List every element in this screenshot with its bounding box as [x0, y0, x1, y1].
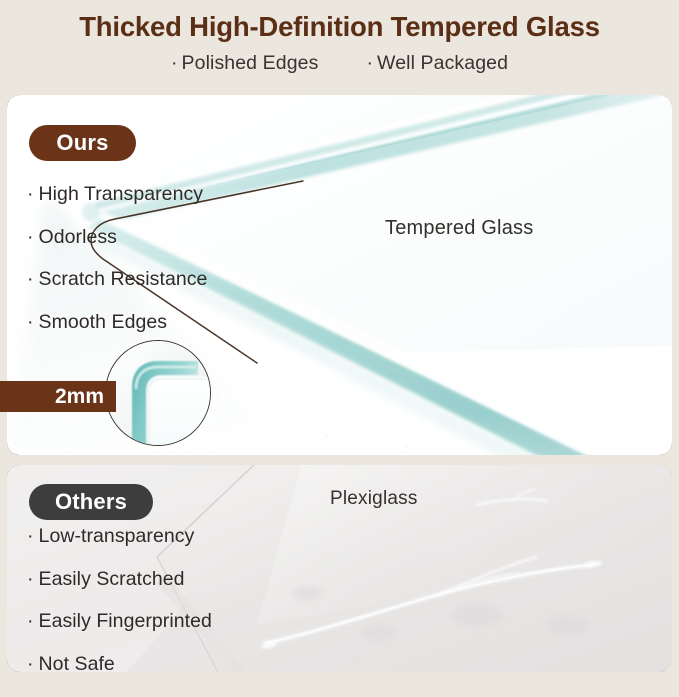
- feature-label: Easily Fingerprinted: [39, 610, 212, 632]
- subtitle-item-well-packaged: ·Well Packaged: [366, 52, 508, 75]
- bullet-dot-icon: ·: [27, 268, 34, 290]
- others-badge: Others: [29, 484, 153, 520]
- ours-badge: Ours: [29, 125, 136, 161]
- product-comparison-infographic: Thicked High-Definition Tempered Glass ·…: [0, 0, 679, 679]
- feature-label: Not Safe: [39, 653, 115, 675]
- list-item: ·Scratch Resistance: [27, 270, 207, 290]
- bullet-dot-icon: ·: [27, 568, 34, 590]
- feature-label: Low-transparency: [39, 525, 195, 547]
- list-item: ·High Transparency: [27, 185, 207, 205]
- bullet-dot-icon: ·: [27, 183, 34, 205]
- bullet-dot-icon: ·: [366, 52, 373, 74]
- others-feature-list: ·Low-transparency ·Easily Scratched ·Eas…: [27, 527, 212, 697]
- feature-label: Easily Scratched: [39, 568, 185, 590]
- bullet-dot-icon: ·: [27, 610, 34, 632]
- ours-feature-list: ·High Transparency ·Odorless ·Scratch Re…: [27, 185, 207, 355]
- list-item: ·Not Safe: [27, 655, 212, 675]
- feature-label: Scratch Resistance: [39, 268, 208, 290]
- ours-badge-label: Ours: [56, 130, 108, 156]
- edge-magnifier-circle: [105, 340, 211, 446]
- bullet-dot-icon: ·: [27, 311, 34, 333]
- header: Thicked High-Definition Tempered Glass ·…: [0, 0, 679, 92]
- bullet-dot-icon: ·: [27, 653, 34, 675]
- others-badge-label: Others: [55, 489, 127, 515]
- thickness-badge: 2mm: [0, 381, 116, 412]
- bullet-dot-icon: ·: [171, 52, 178, 74]
- list-item: ·Low-transparency: [27, 527, 212, 547]
- list-item: ·Odorless: [27, 228, 207, 248]
- bullet-dot-icon: ·: [27, 525, 34, 547]
- feature-label: Odorless: [39, 226, 117, 248]
- list-item: ·Easily Fingerprinted: [27, 612, 212, 632]
- subtitle-row: ·Polished Edges ·Well Packaged: [0, 52, 679, 75]
- list-item: ·Smooth Edges: [27, 313, 207, 333]
- subtitle-label: Well Packaged: [377, 52, 508, 74]
- feature-label: High Transparency: [39, 183, 204, 205]
- subtitle-item-polished-edges: ·Polished Edges: [171, 52, 319, 75]
- bullet-dot-icon: ·: [27, 226, 34, 248]
- rounded-edge-zoom-illustration: [106, 341, 210, 445]
- plexiglass-label: Plexiglass: [330, 488, 418, 510]
- subtitle-label: Polished Edges: [182, 52, 319, 74]
- list-item: ·Easily Scratched: [27, 570, 212, 590]
- thickness-label: 2mm: [55, 385, 104, 409]
- page-title: Thicked High-Definition Tempered Glass: [0, 11, 679, 43]
- tempered-glass-label: Tempered Glass: [385, 217, 533, 240]
- feature-label: Smooth Edges: [39, 311, 168, 333]
